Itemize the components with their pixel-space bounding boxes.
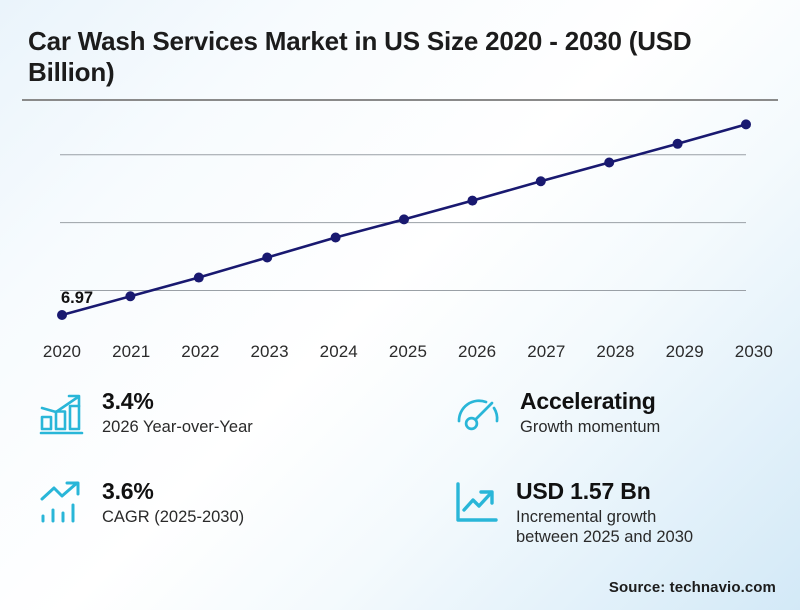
metric-card-cagr: 3.6% CAGR (2025-2030) (38, 478, 244, 528)
x-tick-2028: 2028 (590, 342, 642, 362)
x-tick-2027: 2027 (520, 342, 572, 362)
chart-point-2027 (536, 176, 546, 186)
metrics-row: 3.4% 2026 Year-over-Year 3. (0, 382, 800, 562)
metric-label: Incremental growth between 2025 and 2030 (516, 507, 693, 547)
chart-data-label-2020: 6.97 (61, 289, 93, 307)
metric-card-incremental: USD 1.57 Bn Incremental growth between 2… (452, 478, 693, 547)
metric-card-text: Accelerating Growth momentum (520, 388, 660, 437)
chart-x-axis: 2020202120222023202420252026202720282029… (0, 342, 800, 370)
metric-card-yoy: 3.4% 2026 Year-over-Year (38, 388, 253, 438)
metric-label: Growth momentum (520, 417, 660, 437)
trend-axis-icon (452, 478, 504, 528)
metric-card-momentum: Accelerating Growth momentum (456, 388, 660, 438)
x-tick-2029: 2029 (659, 342, 711, 362)
line-chart: 6.97 (0, 108, 800, 370)
infographic-page: Car Wash Services Market in US Size 2020… (0, 0, 800, 610)
chart-markers (57, 119, 751, 320)
metric-label: CAGR (2025-2030) (102, 507, 244, 527)
chart-point-2025 (399, 214, 409, 224)
x-tick-2025: 2025 (382, 342, 434, 362)
chart-point-2020 (57, 310, 67, 320)
metric-value: USD 1.57 Bn (516, 479, 693, 505)
x-tick-2026: 2026 (451, 342, 503, 362)
metric-card-text: USD 1.57 Bn Incremental growth between 2… (516, 478, 693, 547)
x-tick-2022: 2022 (174, 342, 226, 362)
chart-point-2021 (125, 291, 135, 301)
growth-bars-icon (38, 478, 90, 528)
source-attribution: Source: technavio.com (609, 579, 776, 596)
metric-value: 3.4% (102, 389, 253, 415)
x-tick-2021: 2021 (105, 342, 157, 362)
x-tick-2030: 2030 (728, 342, 780, 362)
x-tick-2024: 2024 (313, 342, 365, 362)
chart-point-2024 (331, 232, 341, 242)
title-divider (22, 99, 778, 101)
chart-point-2028 (604, 158, 614, 168)
metric-card-text: 3.6% CAGR (2025-2030) (102, 478, 244, 527)
x-tick-2023: 2023 (244, 342, 296, 362)
chart-point-2026 (467, 196, 477, 206)
chart-point-2030 (741, 119, 751, 129)
metric-label: 2026 Year-over-Year (102, 417, 253, 437)
bar-chart-arrow-icon (38, 388, 90, 438)
x-tick-2020: 2020 (36, 342, 88, 362)
metric-value: Accelerating (520, 389, 660, 415)
metric-card-text: 3.4% 2026 Year-over-Year (102, 388, 253, 437)
speedometer-icon (456, 388, 508, 438)
metric-value: 3.6% (102, 479, 244, 505)
chart-point-2022 (194, 273, 204, 283)
chart-point-2029 (673, 139, 683, 149)
chart-point-2023 (262, 253, 272, 263)
page-title: Car Wash Services Market in US Size 2020… (28, 26, 758, 88)
